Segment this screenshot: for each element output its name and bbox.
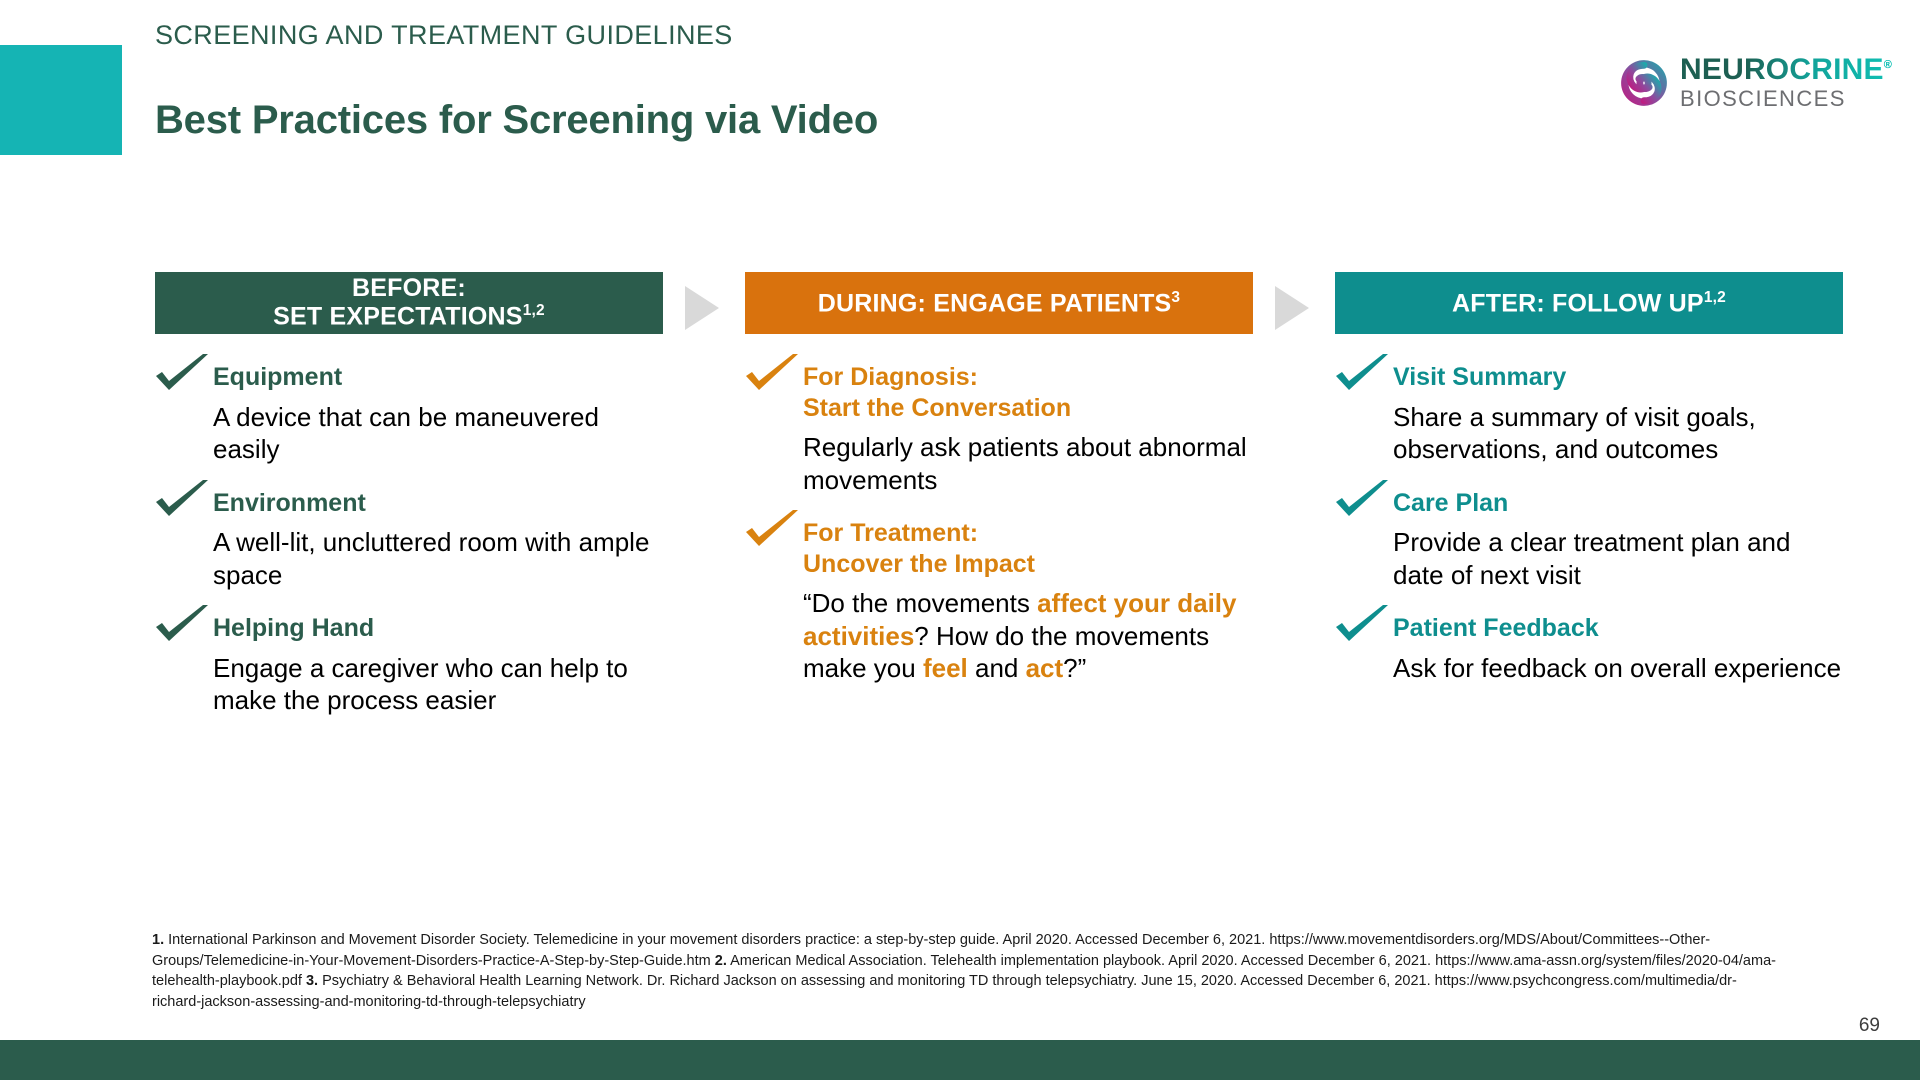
list-item-title: Environment [213,488,663,519]
column-header-after: AFTER: FOLLOW UP1,2 [1335,272,1843,334]
column-header-sup: 1,2 [523,302,545,319]
page-title: Best Practices for Screening via Video [155,98,878,143]
list-item: Environment A well-lit, uncluttered room… [155,488,663,592]
list-item-title-line2: Uncover the Impact [803,549,1253,580]
footnote-ref-1-number: 1. [152,932,164,948]
footnote-ref-3-number: 3. [306,973,318,989]
column-header-line1: DURING: ENGAGE PATIENTS3 [818,289,1181,317]
list-item-title-line1: For Treatment: [803,518,1253,549]
quote-text: and [968,653,1026,683]
slide-canvas: SCREENING AND TREATMENT GUIDELINES Best … [0,0,1920,1080]
check-icon [743,510,801,552]
column-after: AFTER: FOLLOW UP1,2 Visit Summary Share … [1335,272,1843,706]
column-header-before: BEFORE: SET EXPECTATIONS1,2 [155,272,663,334]
accent-block [0,45,122,155]
footnote-ref-3-text: Psychiatry & Behavioral Health Learning … [152,973,1737,1010]
brand-logo: NEUROCRINE® BIOSCIENCES [1618,55,1892,110]
column-header-line2: SET EXPECTATIONS1,2 [273,302,545,331]
check-icon [1333,605,1391,647]
check-icon [1333,354,1391,396]
logo-word: NEUROCRINE® [1680,55,1892,85]
check-icon [153,480,211,522]
list-item-title: Visit Summary [1393,362,1843,393]
eyebrow-label: SCREENING AND TREATMENT GUIDELINES [155,20,733,51]
list-item: For Diagnosis: Start the Conversation Re… [745,362,1253,496]
column-items-after: Visit Summary Share a summary of visit g… [1335,362,1843,684]
list-item-body: A well-lit, uncluttered room with ample … [213,526,663,591]
bottom-bar [0,1040,1920,1080]
list-item: Equipment A device that can be maneuvere… [155,362,663,466]
list-item-body: Share a summary of visit goals, observat… [1393,401,1843,466]
quote-highlight: act [1026,653,1064,683]
list-item: Care Plan Provide a clear treatment plan… [1335,488,1843,592]
column-header-sup: 1,2 [1704,289,1726,306]
list-item-body: Provide a clear treatment plan and date … [1393,526,1843,591]
process-columns: BEFORE: SET EXPECTATIONS1,2 Equipment A … [0,272,1920,912]
column-header-line1: AFTER: FOLLOW UP1,2 [1452,289,1726,317]
column-before: BEFORE: SET EXPECTATIONS1,2 Equipment A … [155,272,663,739]
page-number: 69 [1859,1015,1880,1037]
logo-wordmark: NEUROCRINE® BIOSCIENCES [1680,55,1892,110]
column-header-sup: 3 [1171,289,1180,306]
arrow-separator-icon-2 [1275,286,1309,330]
list-item-title-line1: For Diagnosis: [803,362,1253,393]
registered-mark: ® [1884,59,1892,71]
check-icon [1333,480,1391,522]
quote-text: ?” [1063,653,1086,683]
list-item-quote: “Do the movements affect your daily acti… [803,587,1253,685]
footnote-ref-2-number: 2. [715,953,727,969]
list-item-body: Engage a caregiver who can help to make … [213,652,663,717]
footnotes: 1. International Parkinson and Movement … [152,930,1782,1012]
column-header-during: DURING: ENGAGE PATIENTS3 [745,272,1253,334]
list-item-title: Equipment [213,362,663,393]
check-icon [153,354,211,396]
list-item: Helping Hand Engage a caregiver who can … [155,613,663,717]
arrow-separator-icon-1 [685,286,719,330]
list-item-title: Care Plan [1393,488,1843,519]
list-item: Visit Summary Share a summary of visit g… [1335,362,1843,466]
list-item-title: Patient Feedback [1393,613,1843,644]
list-item-body: Regularly ask patients about abnormal mo… [803,431,1253,496]
check-icon [743,354,801,396]
column-during: DURING: ENGAGE PATIENTS3 For Diagnosis: … [745,272,1253,707]
list-item-body: Ask for feedback on overall experience [1393,652,1843,685]
quote-highlight: feel [923,653,968,683]
logo-subtitle: BIOSCIENCES [1680,88,1892,110]
list-item: For Treatment: Uncover the Impact “Do th… [745,518,1253,685]
check-icon [153,605,211,647]
list-item-title: For Diagnosis: Start the Conversation [803,362,1253,423]
column-items-during: For Diagnosis: Start the Conversation Re… [745,362,1253,685]
quote-text: “Do the movements [803,588,1037,618]
neurocrine-swirl-icon [1618,57,1670,109]
list-item-title: For Treatment: Uncover the Impact [803,518,1253,579]
column-items-before: Equipment A device that can be maneuvere… [155,362,663,717]
list-item-title-line2: Start the Conversation [803,393,1253,424]
list-item-body: A device that can be maneuvered easily [213,401,663,466]
list-item: Patient Feedback Ask for feedback on ove… [1335,613,1843,684]
column-header-line1: BEFORE: [352,275,466,303]
list-item-title: Helping Hand [213,613,663,644]
